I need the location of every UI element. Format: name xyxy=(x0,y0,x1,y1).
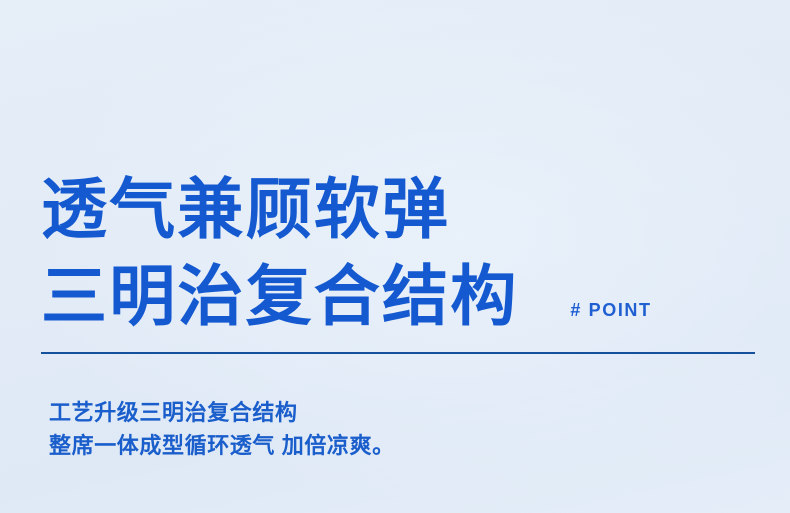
headline-row-2: 三明治复合结构 # POINT xyxy=(41,253,761,340)
point-tag-label: # POINT xyxy=(570,300,651,321)
product-feature-banner: 透气兼顾软弹 三明治复合结构 # POINT 工艺升级三明治复合结构 整席一体成… xyxy=(0,0,790,513)
body-copy-line-2: 整席一体成型循环透气 加倍凉爽。 xyxy=(49,429,749,462)
section-divider xyxy=(41,352,755,354)
body-copy-block: 工艺升级三明治复合结构 整席一体成型循环透气 加倍凉爽。 xyxy=(49,396,749,462)
body-copy-line-1: 工艺升级三明治复合结构 xyxy=(49,396,749,429)
headline-line-1: 透气兼顾软弹 xyxy=(41,166,761,253)
headline-line-2: 三明治复合结构 xyxy=(41,253,518,340)
headline-block: 透气兼顾软弹 三明治复合结构 # POINT xyxy=(41,166,761,340)
